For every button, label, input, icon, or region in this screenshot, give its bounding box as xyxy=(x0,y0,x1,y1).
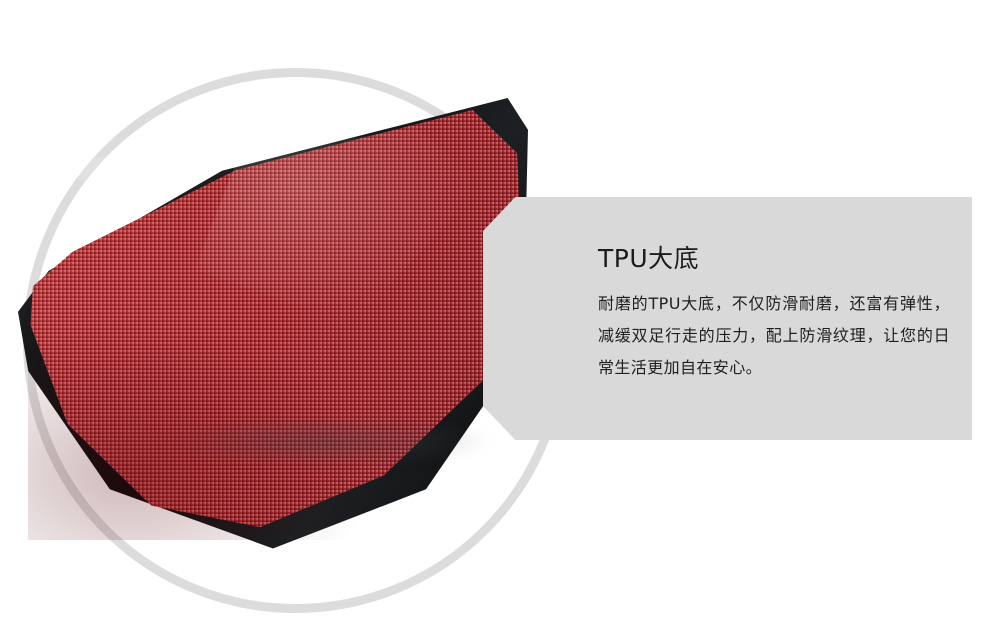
feature-info-panel: TPU大底 耐磨的TPU大底，不仅防滑耐磨，还富有弹性，减缓双足行走的压力，配上… xyxy=(483,197,972,440)
product-feature-banner: TPU大底 耐磨的TPU大底，不仅防滑耐磨，还富有弹性，减缓双足行走的压力，配上… xyxy=(0,0,990,625)
outsole-texture xyxy=(28,110,522,540)
photo-drop-shadow xyxy=(160,418,490,464)
feature-title: TPU大底 xyxy=(598,244,950,274)
shoe-outsole-red xyxy=(28,110,522,540)
feature-description: 耐磨的TPU大底，不仅防滑耐磨，还富有弹性，减缓双足行走的压力，配上防滑纹理，让… xyxy=(598,288,950,384)
feature-info-content: TPU大底 耐磨的TPU大底，不仅防滑耐磨，还富有弹性，减缓双足行走的压力，配上… xyxy=(598,244,950,384)
shoe-outsole-photo xyxy=(0,90,540,560)
